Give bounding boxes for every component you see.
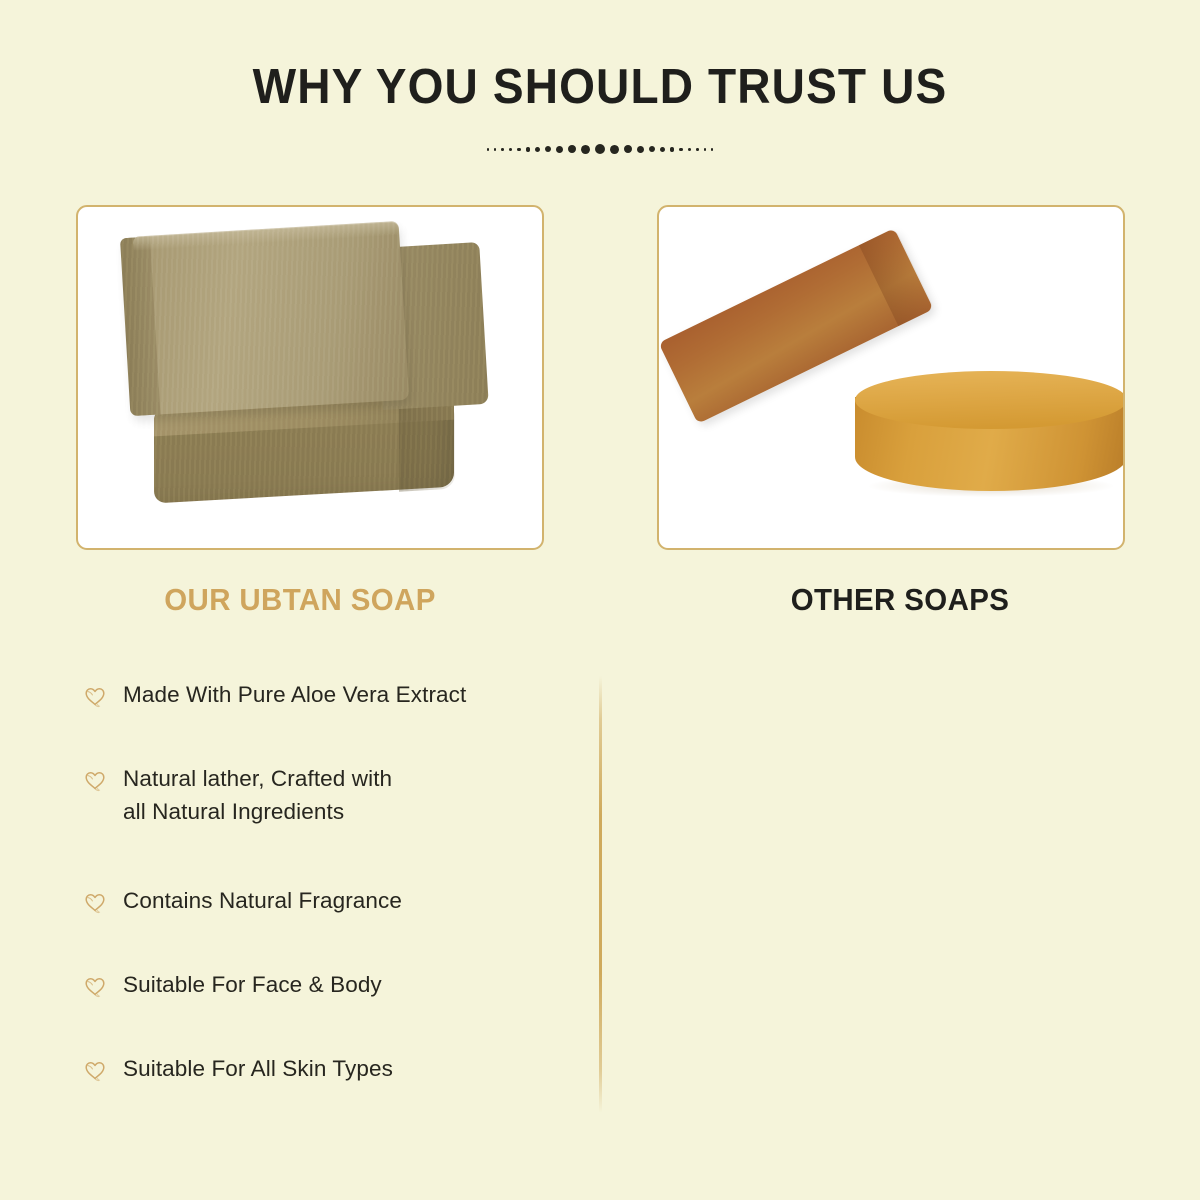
divider-dot: [501, 148, 504, 151]
divider-dot: [494, 148, 496, 150]
divider-dot: [517, 148, 521, 152]
divider-dot: [688, 148, 691, 151]
divider-dot: [535, 147, 540, 152]
soap-bar-top: [120, 222, 408, 416]
heading-our-ubtan-soap: OUR UBTAN SOAP: [15, 582, 585, 618]
other-soaps-bar-and-disc-image: [659, 207, 1123, 548]
divider-dot: [704, 148, 706, 150]
our-soap-image-card: [76, 205, 544, 550]
divider-dot: [595, 144, 605, 154]
divider-dot: [556, 146, 563, 153]
comparison-lists: Made With Pure Aloe Vera Extract Natural…: [0, 678, 1200, 1118]
divider-dot: [696, 148, 699, 151]
comparison-row-text: Suitable For All Skin Types: [123, 1052, 393, 1085]
product-image-cards: [0, 205, 1200, 550]
divider-dot: [568, 145, 576, 153]
divider-dot: [670, 147, 674, 151]
divider-dot: [624, 145, 632, 153]
comparison-row: Made With Pure Aloe Vera Extract: [82, 678, 515, 762]
divider-dot: [660, 147, 665, 152]
disc-top-face: [855, 371, 1125, 429]
comparison-row-text: Suitable For Face & Body: [123, 968, 382, 1001]
heart-outline-icon: [82, 767, 108, 793]
divider-dot: [545, 146, 551, 152]
divider-dot: [509, 148, 512, 151]
ubtan-soap-bars-stacked-image: [78, 207, 542, 548]
ours-column: Made With Pure Aloe Vera Extract Natural…: [0, 678, 555, 1118]
column-headings: OUR UBTAN SOAP OTHER SOAPS: [0, 582, 1200, 618]
other-soaps-image-card: [657, 205, 1125, 550]
divider-dot: [526, 147, 530, 151]
divider-dot: [610, 145, 619, 154]
comparison-row-text: Contains Natural Fragrance: [123, 884, 402, 917]
comparison-infographic: WHY YOU SHOULD TRUST US: [0, 0, 1200, 1200]
divider-dot: [649, 146, 655, 152]
heart-outline-icon: [82, 889, 108, 915]
heart-outline-icon: [82, 683, 108, 709]
heading-other-soaps: OTHER SOAPS: [615, 582, 1185, 618]
divider-dot: [487, 148, 489, 150]
other-soap-round-disc: [855, 371, 1125, 499]
comparison-row: Suitable For All Skin Types: [82, 1052, 515, 1136]
page-title: WHY YOU SHOULD TRUST US: [36, 62, 1164, 113]
divider-dot: [581, 145, 590, 154]
heart-outline-icon: [82, 973, 108, 999]
decorative-dot-divider: [0, 139, 1200, 159]
divider-dot: [711, 148, 713, 150]
comparison-row-text: Made With Pure Aloe Vera Extract: [123, 678, 466, 711]
comparison-row: Contains Natural Fragrance: [82, 884, 515, 968]
divider-dot: [679, 148, 683, 152]
other-column: Does Not Contain Pure Aloe Vera Contains…: [555, 678, 1200, 1118]
comparison-row: Natural lather, Crafted with all Natural…: [82, 762, 515, 884]
header: WHY YOU SHOULD TRUST US: [0, 0, 1200, 159]
heart-outline-icon: [82, 1057, 108, 1083]
divider-dot: [637, 146, 644, 153]
comparison-row: Suitable For Face & Body: [82, 968, 515, 1052]
comparison-row-text: Natural lather, Crafted with all Natural…: [123, 762, 392, 829]
